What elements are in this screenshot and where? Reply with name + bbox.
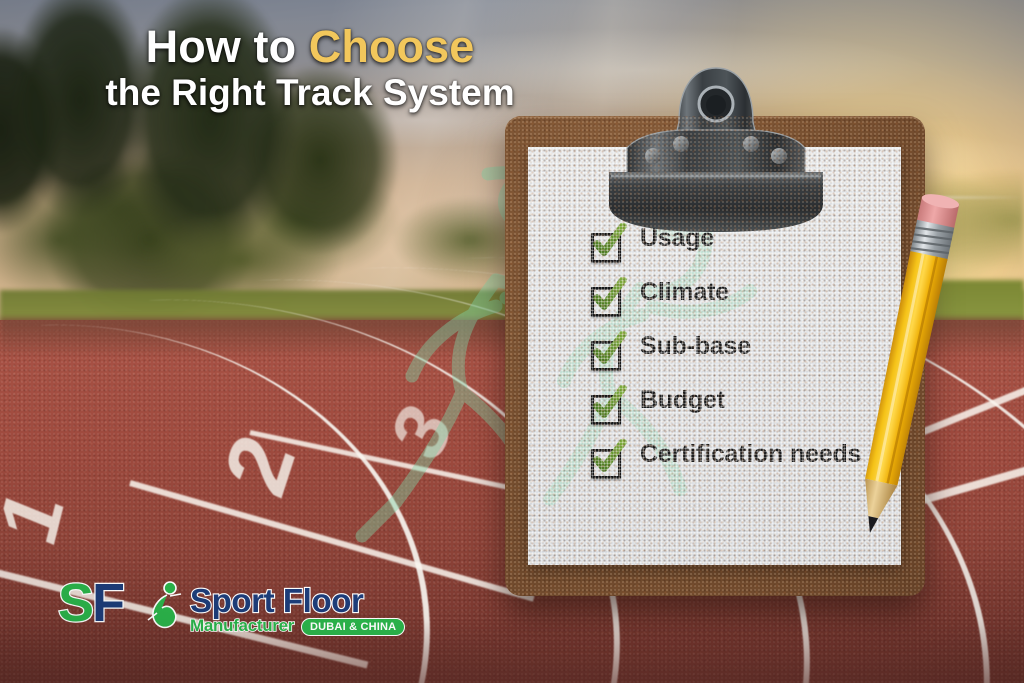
title-prefix: How to [146, 21, 309, 72]
checklist: Usage Climate [590, 225, 890, 479]
logo-letter-f: F [92, 573, 123, 633]
title-highlight: Choose [309, 21, 475, 72]
logo-region-badge: DUBAI & CHINA [301, 618, 405, 636]
logo-letter-s: S [58, 573, 92, 633]
clipboard-clip-icon [591, 64, 841, 239]
checklist-item-label: Certification needs [640, 441, 861, 468]
infographic-canvas: 1 2 3 How to Choose the Right Track Syst… [0, 0, 1024, 683]
checkbox-checked-icon[interactable] [590, 229, 624, 263]
logo-name: Sport Floor [190, 582, 363, 620]
checklist-item[interactable]: Sub-base [590, 333, 890, 371]
checklist-item[interactable]: Climate [590, 279, 890, 317]
title-line-1: How to Choose [0, 24, 620, 70]
paper-runner-watermark [488, 157, 788, 557]
clipboard-paper: Usage Climate [528, 147, 901, 565]
clipboard: Usage Climate [505, 116, 925, 596]
checklist-item-label: Climate [640, 279, 729, 306]
title-line-2: the Right Track System [0, 74, 620, 112]
runner-icon [140, 580, 186, 632]
checkbox-checked-icon[interactable] [590, 337, 624, 371]
checkbox-checked-icon[interactable] [590, 283, 624, 317]
logo-monogram: SF [58, 576, 123, 630]
checklist-item[interactable]: Budget [590, 387, 890, 425]
checklist-item[interactable]: Usage [590, 225, 890, 263]
brand-logo[interactable]: SF Sport Floor Manufacturer DUBAI & CHIN… [58, 578, 388, 640]
logo-tagline: Manufacturer [190, 616, 294, 636]
checkbox-checked-icon[interactable] [590, 391, 624, 425]
checklist-item[interactable]: Certification needs [590, 441, 890, 479]
checklist-item-label: Budget [640, 387, 725, 414]
checklist-item-label: Sub-base [640, 333, 751, 360]
checklist-item-label: Usage [640, 225, 714, 252]
checkbox-checked-icon[interactable] [590, 445, 624, 479]
page-title: How to Choose the Right Track System [0, 24, 620, 112]
